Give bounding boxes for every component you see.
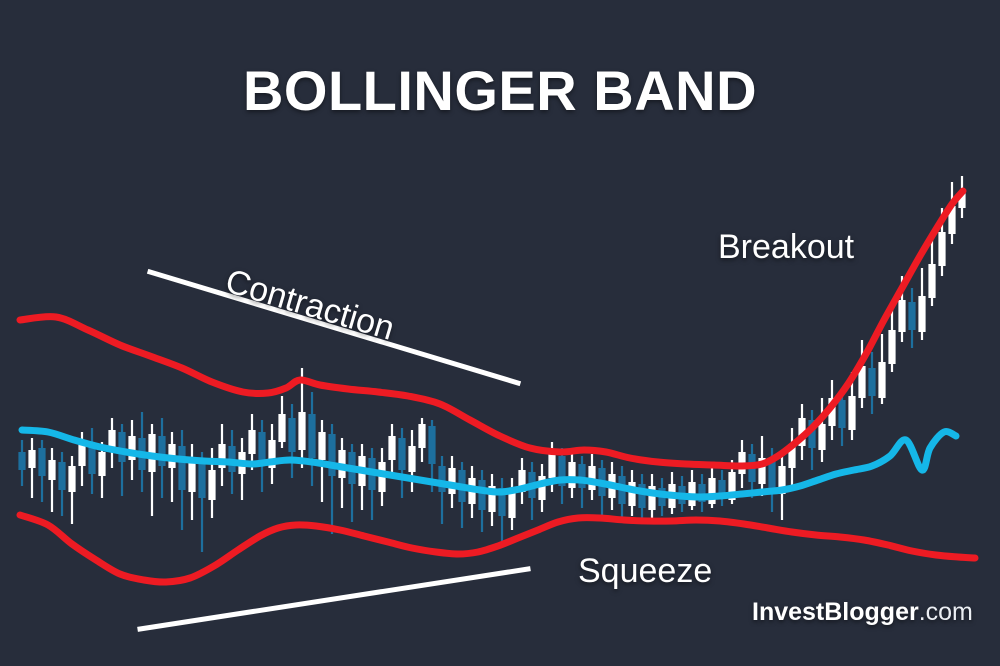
candle-body xyxy=(908,302,915,330)
candle-body xyxy=(118,432,125,462)
candle-body xyxy=(158,436,165,466)
watermark-tld: .com xyxy=(919,598,973,626)
candle-body xyxy=(68,466,75,492)
candle-body xyxy=(848,396,855,430)
candle-body xyxy=(938,232,945,266)
watermark-brand: InvestBlogger xyxy=(752,598,919,626)
candle-body xyxy=(438,466,445,492)
candle-body xyxy=(178,446,185,490)
candle-body xyxy=(328,434,335,476)
candle-body xyxy=(298,412,305,450)
candle-body xyxy=(918,296,925,332)
candle-body xyxy=(98,452,105,476)
candle-body xyxy=(208,470,215,500)
annotation-squeeze: Squeeze xyxy=(578,552,712,591)
candle-body xyxy=(428,426,435,464)
candle-body xyxy=(818,424,825,450)
candle-body xyxy=(278,414,285,442)
candle-body xyxy=(58,462,65,490)
candle-body xyxy=(308,414,315,458)
candle-body xyxy=(868,368,875,396)
page-title: BOLLINGER BAND xyxy=(0,58,1000,123)
candle-body xyxy=(38,448,45,476)
candle-body xyxy=(198,464,205,498)
candle-body xyxy=(888,330,895,364)
candle-body xyxy=(78,444,85,466)
candle-body xyxy=(448,468,455,494)
candle-body xyxy=(248,430,255,454)
candle-body xyxy=(188,462,195,492)
candle-body xyxy=(318,432,325,460)
candle-body xyxy=(418,424,425,448)
candle-body xyxy=(568,462,575,488)
candle-body xyxy=(388,436,395,460)
candle-body xyxy=(28,450,35,468)
candle-body xyxy=(838,400,845,428)
candle-body xyxy=(408,446,415,472)
annotation-breakout: Breakout xyxy=(718,228,854,267)
candle-body xyxy=(548,454,555,478)
candle-body xyxy=(48,460,55,480)
candle-body xyxy=(398,438,405,470)
candle-body xyxy=(288,418,295,452)
bollinger-band-infographic: BOLLINGER BAND Breakout Contraction Sque… xyxy=(0,0,1000,666)
candle-body xyxy=(878,362,885,398)
watermark: InvestBlogger.com xyxy=(752,598,973,627)
candle-body xyxy=(18,452,25,470)
candle-body xyxy=(578,464,585,488)
candle-body xyxy=(898,300,905,332)
candle-body xyxy=(478,480,485,510)
candle-body xyxy=(88,446,95,474)
candle-body xyxy=(928,264,935,298)
